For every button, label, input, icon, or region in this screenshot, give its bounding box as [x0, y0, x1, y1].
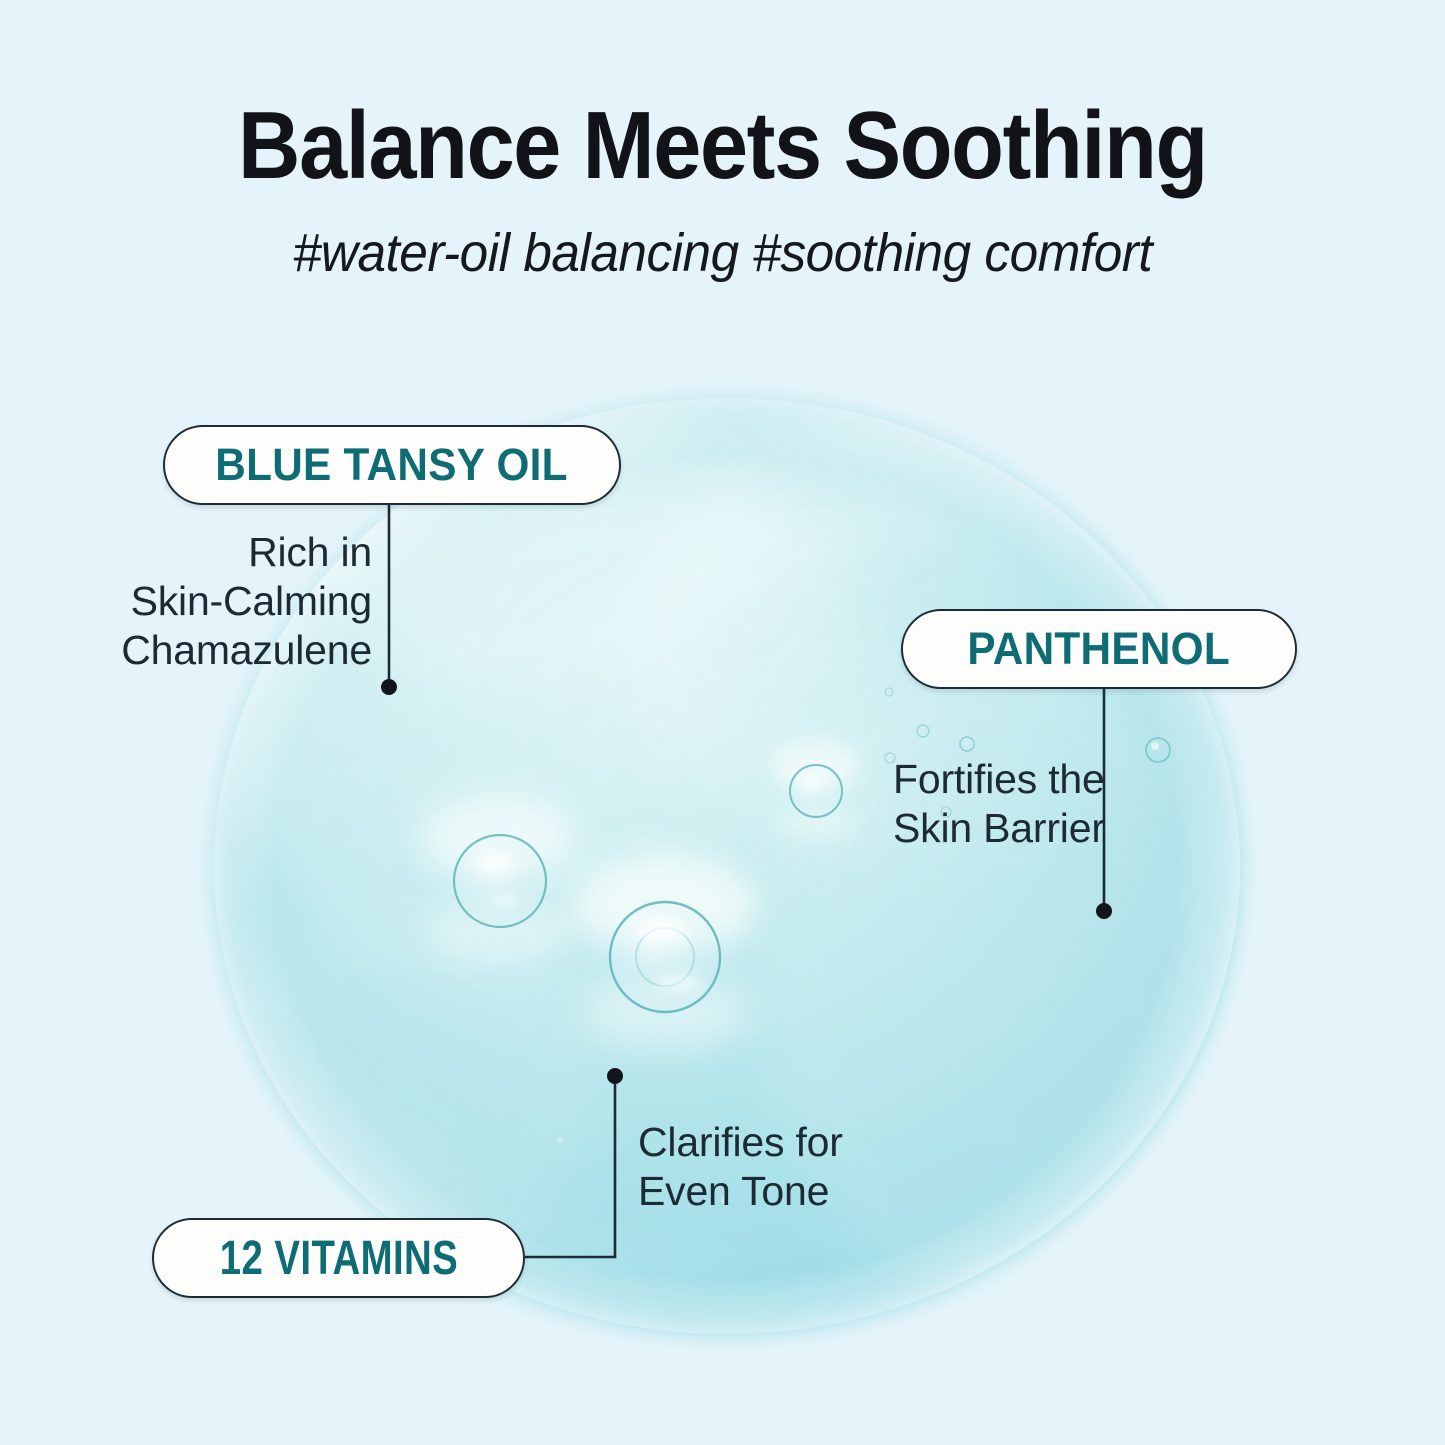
callout-description-blue-tansy: Rich in Skin-Calming Chamazulene: [60, 528, 372, 675]
callout-description-vitamins: Clarifies for Even Tone: [638, 1118, 968, 1216]
page-title: Balance Meets Soothing: [72, 96, 1373, 196]
infographic-canvas: Balance Meets Soothing #water-oil balanc…: [0, 0, 1445, 1445]
callout-pill-vitamins[interactable]: 12 VITAMINS: [152, 1218, 525, 1298]
callout-pill-blue-tansy[interactable]: BLUE TANSY OIL: [163, 425, 621, 505]
callout-pill-panthenol[interactable]: PANTHENOL: [901, 609, 1297, 689]
callout-pill-label-vitamins: 12 VITAMINS: [219, 1231, 457, 1286]
leader-line-vitamins: [525, 1080, 615, 1257]
callout-pill-label-blue-tansy: BLUE TANSY OIL: [216, 439, 569, 491]
callout-pill-label-panthenol: PANTHENOL: [968, 623, 1231, 675]
leader-dot-panthenol: [1096, 903, 1112, 919]
callout-description-panthenol: Fortifies the Skin Barrier: [893, 755, 1223, 853]
leader-dot-blue-tansy: [381, 679, 397, 695]
leader-dot-vitamins: [607, 1068, 623, 1084]
page-subtitle: #water-oil balancing #soothing comfort: [36, 222, 1409, 284]
